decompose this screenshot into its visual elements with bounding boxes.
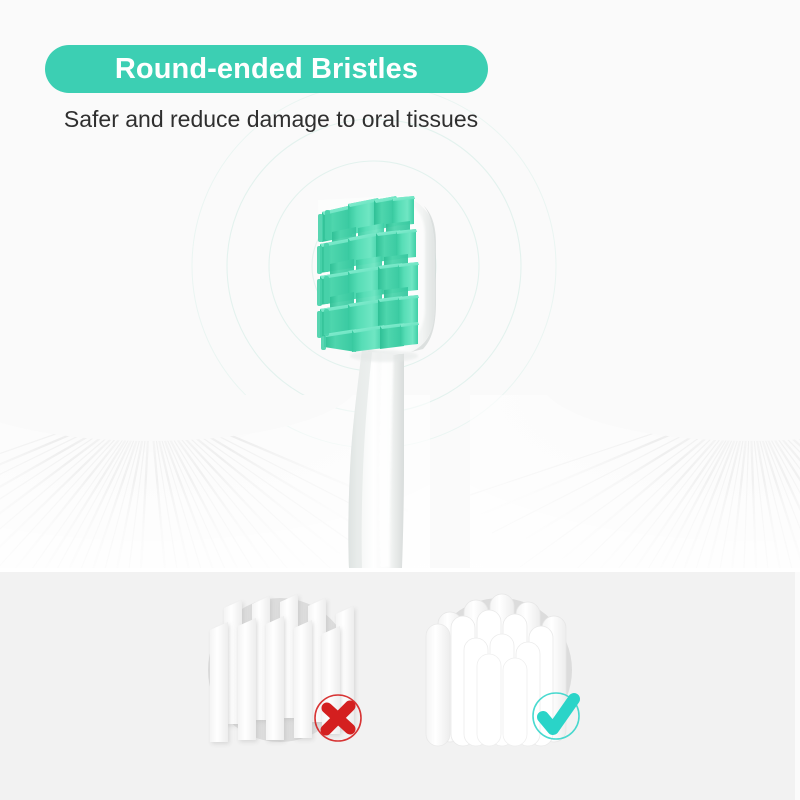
bristle-tufts (317, 196, 419, 352)
subtitle-text: Safer and reduce damage to oral tissues (45, 106, 497, 134)
icon-sharp-cut-bristles (208, 594, 361, 742)
headline-badge: Round-ended Bristles (45, 45, 488, 93)
bristle-comparison-icons (0, 572, 795, 800)
comparison-panel (0, 572, 795, 800)
panel-right-edge (795, 572, 800, 800)
product-feature-graphic: Round-ended Bristles Safer and reduce da… (0, 0, 800, 800)
icon-round-ended-bristles (426, 594, 579, 746)
headline-text: Round-ended Bristles (115, 55, 418, 84)
